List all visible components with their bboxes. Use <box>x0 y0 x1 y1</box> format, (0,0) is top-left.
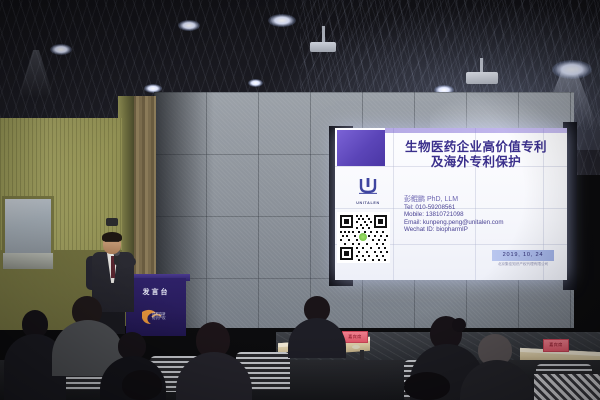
speaker-glasses-icon <box>105 241 119 245</box>
audience-hair-bun <box>452 318 466 332</box>
projector-icon <box>310 42 336 52</box>
contact-mobile: Mobile: 13810721098 <box>404 211 564 219</box>
window-glass <box>5 199 51 253</box>
wall-speaker-box <box>106 218 118 226</box>
name-card-right-text: 嘉宾席 <box>544 340 568 349</box>
name-card-left: 嘉宾席 <box>342 331 368 343</box>
unitalen-u-mark-icon <box>358 178 378 195</box>
audience-head <box>122 370 162 400</box>
name-card-right: 嘉宾席 <box>543 339 569 352</box>
downlight-icon <box>268 14 296 27</box>
projector-icon <box>466 72 498 84</box>
unitalen-logo-text: UNITALEN <box>348 201 388 205</box>
slide-purple-block <box>337 130 385 166</box>
slide-title-line2: 及海外专利保护 <box>386 155 566 170</box>
podium-logo-line2: 知识产权 <box>152 316 182 320</box>
name-card-left-text: 嘉宾席 <box>343 332 367 341</box>
qr-center-dot-icon <box>359 233 367 241</box>
audience-head <box>404 372 450 400</box>
contact-email: Email: kunpeng.peng@unitalen.com <box>404 219 564 227</box>
contact-wechat: Wechat ID: biopharmIP <box>404 226 564 234</box>
podium-label: 发言台 <box>126 287 186 297</box>
slide-contact-block: 彭鲲鹏 PhD, LLM Tel: 010-59208561 Mobile: 1… <box>404 196 564 234</box>
unitalen-logo: UNITALEN <box>348 178 388 205</box>
downlight-icon <box>50 44 72 55</box>
slide-top-accent-bar <box>385 128 567 133</box>
audience-patterned-coat <box>534 374 600 400</box>
slide-title: 生物医药企业高价值专利 及海外专利保护 <box>386 140 566 170</box>
table-cup <box>352 345 360 349</box>
downlight-icon <box>178 20 200 31</box>
slide-title-line1: 生物医药企业高价值专利 <box>386 140 566 155</box>
contact-tel: Tel: 010-59208561 <box>404 204 564 212</box>
podium-logo-text: 成都高新 知识产权 <box>152 312 182 320</box>
slide-footer-note: 北京集佳知识产权代理有限公司 <box>480 262 566 267</box>
slide-date-badge: 2019, 10, 24 <box>492 250 554 261</box>
conference-photo: 生物医药企业高价值专利 及海外专利保护 UNITALEN <box>0 0 600 400</box>
contact-name: 彭鲲鹏 PhD, LLM <box>404 196 564 204</box>
window-sill <box>3 253 53 269</box>
downlight-icon <box>248 79 263 87</box>
